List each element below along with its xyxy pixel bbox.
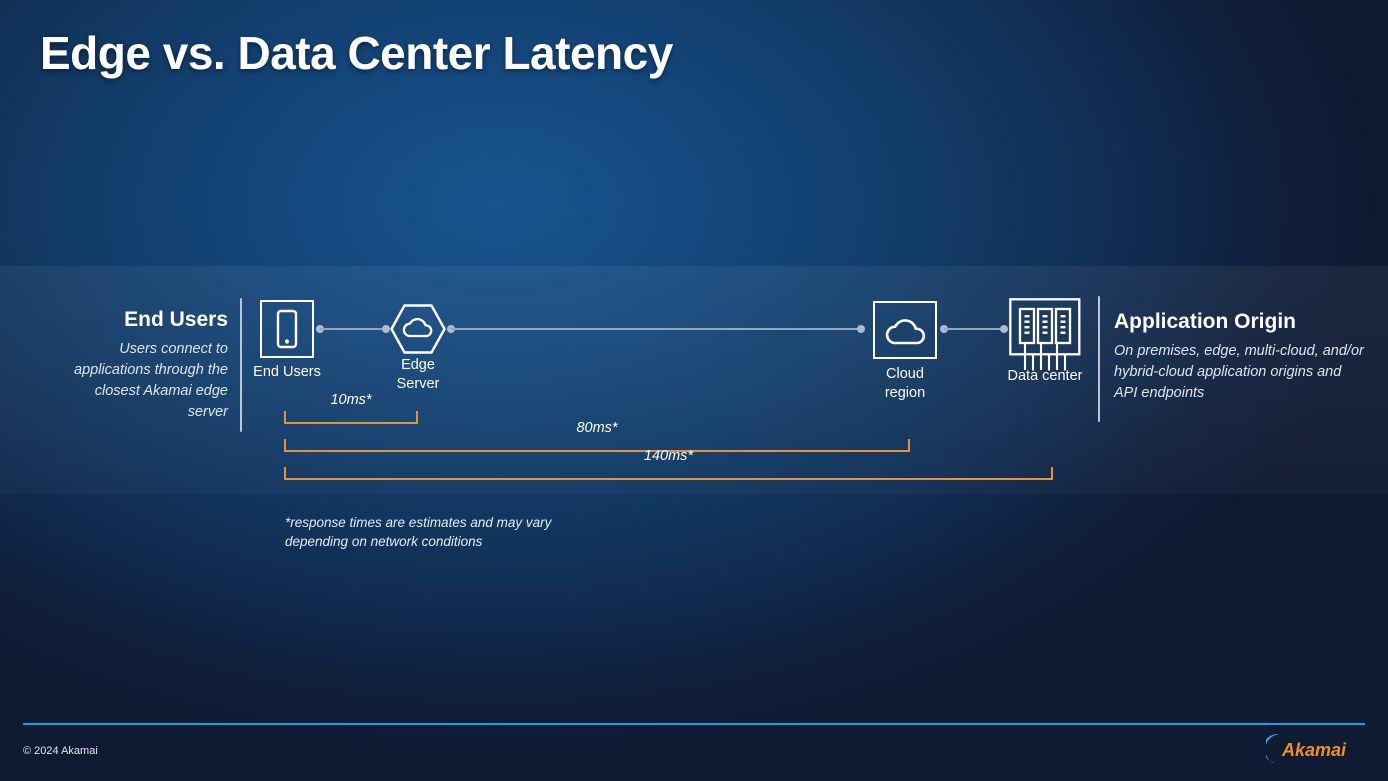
footer-divider-rule (23, 723, 1365, 725)
node-label-cloud-region: Cloud region (885, 365, 925, 402)
footnote-line-1: *response times are estimates and may va… (285, 513, 551, 532)
right-panel-description: On premises, edge, multi-cloud, and/or h… (1114, 341, 1364, 404)
left-vertical-divider (240, 298, 242, 432)
connector-line (944, 328, 1004, 330)
footnote: *response times are estimates and may va… (285, 513, 551, 551)
bracket-bar (284, 478, 1053, 480)
page-title: Edge vs. Data Center Latency (40, 26, 673, 80)
connector-dot (1000, 325, 1008, 333)
left-panel-heading: End Users (58, 308, 228, 332)
bracket-bar (284, 422, 418, 424)
bracket-cap-right (908, 439, 910, 452)
akamai-swoosh-icon (1266, 734, 1280, 763)
slide-canvas: Edge vs. Data Center Latency End Users U… (0, 0, 1388, 781)
akamai-wordmark: Akamai (1281, 740, 1347, 760)
cloud-region-icon-frame (873, 301, 937, 359)
latency-label-140ms: 140ms* (644, 448, 693, 464)
node-label-data-center: Data center (1008, 367, 1083, 386)
left-panel-description: Users connect to applications through th… (58, 339, 228, 423)
connector-edge-to-cloud (447, 324, 865, 334)
diagram-node-data-center: Data center (1009, 298, 1081, 377)
node-label-line: Cloud (885, 365, 925, 384)
node-label-line: Edge (397, 356, 440, 375)
copyright-text: © 2024 Akamai (23, 745, 98, 757)
right-description-panel: Application Origin On premises, edge, mu… (1114, 310, 1364, 404)
bracket-cap-right (1051, 467, 1053, 480)
latency-bracket-10ms: 10ms* (284, 404, 418, 424)
bracket-cap-right (416, 411, 418, 424)
latency-label-10ms: 10ms* (330, 392, 371, 408)
connector-cloud-to-datacenter (940, 324, 1008, 334)
right-vertical-divider (1098, 296, 1100, 422)
akamai-logo: Akamai (1266, 731, 1370, 767)
right-panel-heading: Application Origin (1114, 310, 1364, 334)
hexagon-cloud-icon (389, 303, 447, 355)
footnote-line-2: depending on network conditions (285, 532, 551, 551)
diagram-node-end-users: End Users (260, 300, 314, 358)
connector-endusers-to-edge (316, 324, 390, 334)
node-label-edge-server: Edge Server (397, 356, 440, 393)
latency-bracket-80ms: 80ms* (284, 432, 910, 452)
diagram-node-cloud-region: Cloud region (873, 301, 937, 359)
left-description-panel: End Users Users connect to applications … (58, 308, 228, 423)
latency-bracket-140ms: 140ms* (284, 460, 1053, 480)
connector-line (451, 328, 861, 330)
mobile-phone-icon (262, 302, 312, 356)
end-users-icon-frame (260, 300, 314, 358)
diagram-node-edge-server: Edge Server (389, 303, 447, 360)
bracket-bar (284, 450, 910, 452)
connector-dot (857, 325, 865, 333)
connector-line (320, 328, 386, 330)
cloud-icon (875, 303, 935, 357)
node-label-line: region (885, 384, 925, 403)
node-label-end-users: End Users (253, 363, 321, 382)
server-rack-icon (1009, 298, 1081, 372)
node-label-line: Server (397, 375, 440, 394)
latency-label-80ms: 80ms* (576, 420, 617, 436)
